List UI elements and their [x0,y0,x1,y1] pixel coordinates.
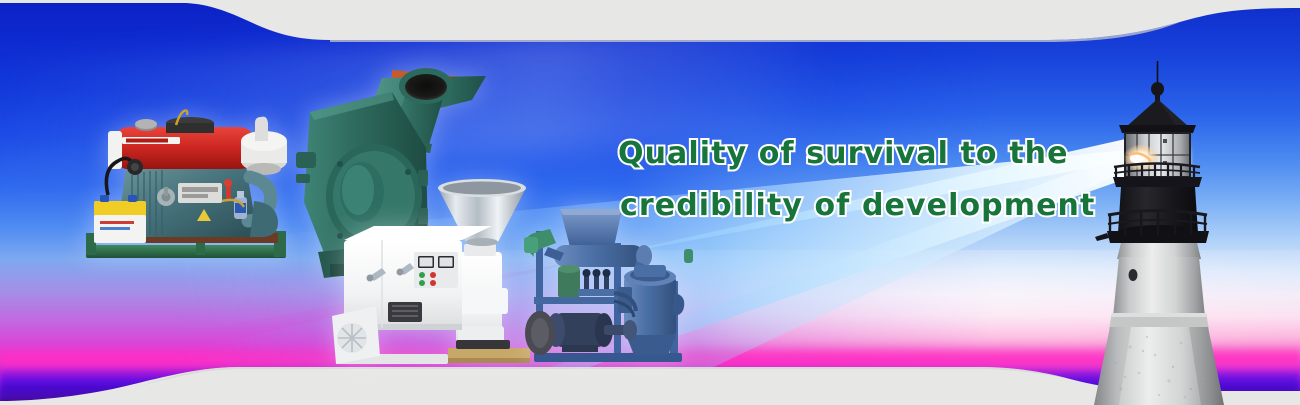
headline-line-1: Quality of survival to the [618,128,1058,180]
headline-line-2: credibility of development [620,180,1058,232]
headline-block: Quality of survival to the credibility o… [618,128,1058,232]
lighthouse [1085,55,1300,405]
promotional-banner: Quality of survival to the credibility o… [0,0,1300,405]
